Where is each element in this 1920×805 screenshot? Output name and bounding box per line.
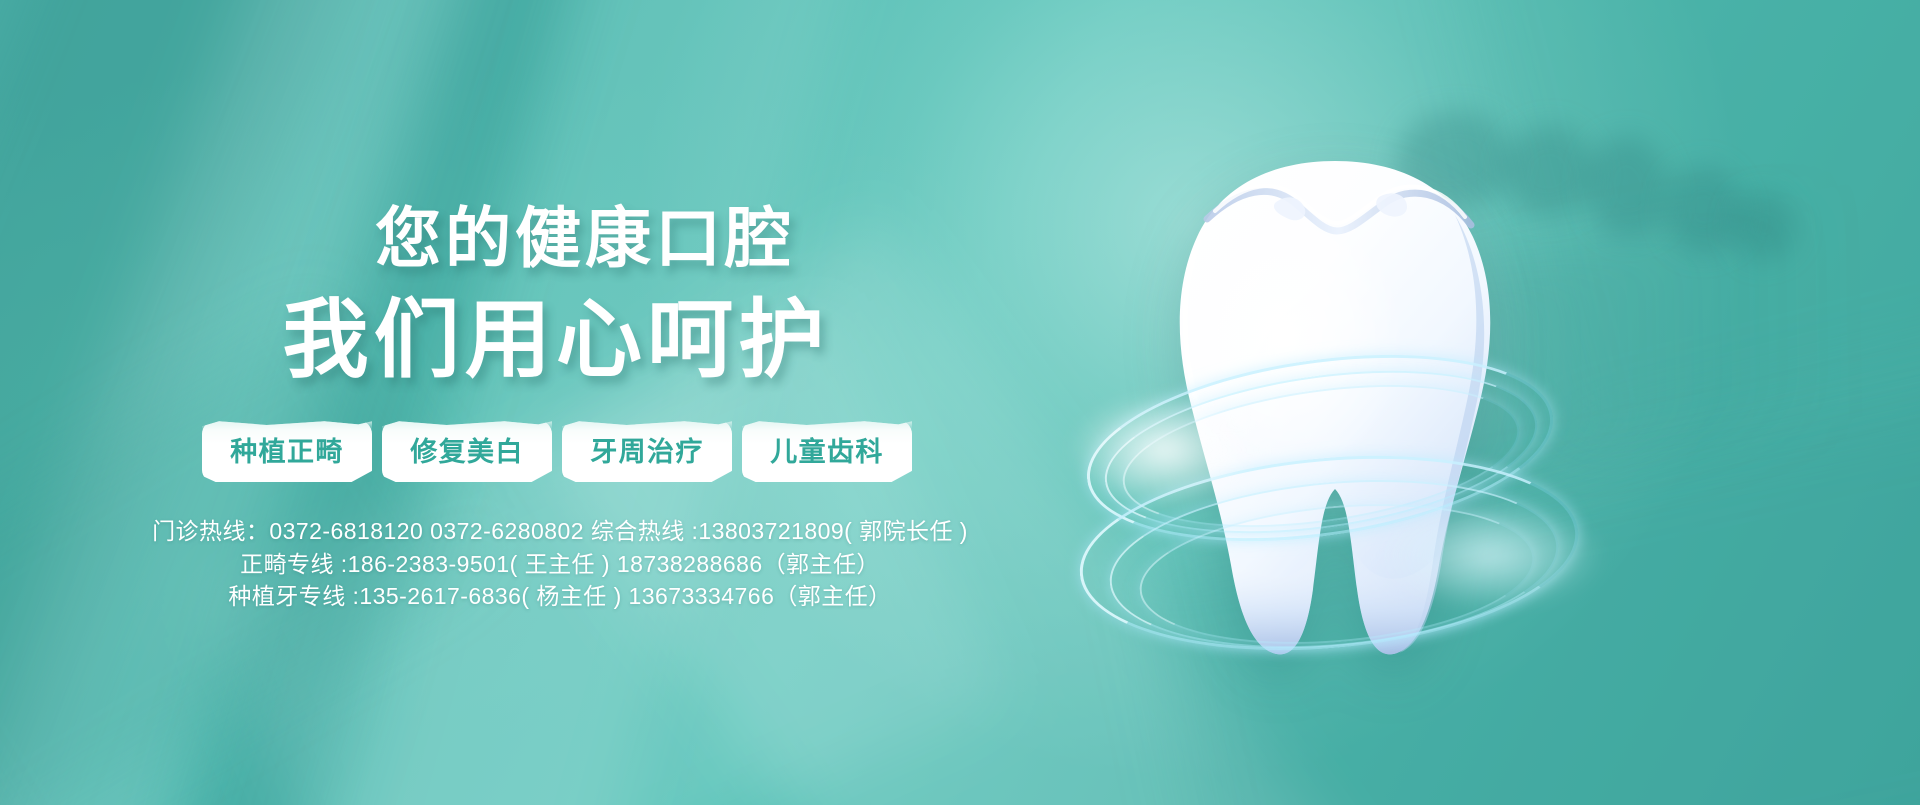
contact-block: 门诊热线：0372-6818120 0372-6280802 综合热线 :138…: [0, 515, 1100, 613]
molar-tooth-icon: [1155, 145, 1515, 675]
service-tag-implant-ortho[interactable]: 种植正畸: [202, 420, 372, 482]
background-tooth-shape: [1580, 130, 1677, 242]
service-tag-pediatric-dentistry[interactable]: 儿童齿科: [742, 420, 912, 482]
contact-line-clinic-hotline: 门诊热线：0372-6818120 0372-6280802 综合热线 :138…: [20, 515, 1100, 548]
headline-line-1: 您的健康口腔: [0, 205, 1100, 271]
contact-line-orthodontics: 正畸专线 :186-2383-9501( 王主任 ) 18738288686（郭…: [20, 548, 1100, 581]
service-tag-restoration-whitening[interactable]: 修复美白: [382, 420, 552, 482]
tooth-illustration: [1095, 135, 1565, 695]
headline-line-2: 我们用心呵护: [0, 297, 1100, 383]
contact-line-implant: 种植牙专线 :135-2617-6836( 杨主任 ) 13673334766（…: [20, 580, 1100, 613]
text-content: 您的健康口腔 我们用心呵护 种植正畸 修复美白 牙周治疗 儿童齿科 门诊热线：0…: [0, 0, 1100, 805]
dental-clinic-banner: 您的健康口腔 我们用心呵护 种植正畸 修复美白 牙周治疗 儿童齿科 门诊热线：0…: [0, 0, 1920, 805]
service-tag-periodontal-treatment[interactable]: 牙周治疗: [562, 420, 732, 482]
service-tag-list: 种植正畸 修复美白 牙周治疗 儿童齿科: [0, 420, 1100, 482]
